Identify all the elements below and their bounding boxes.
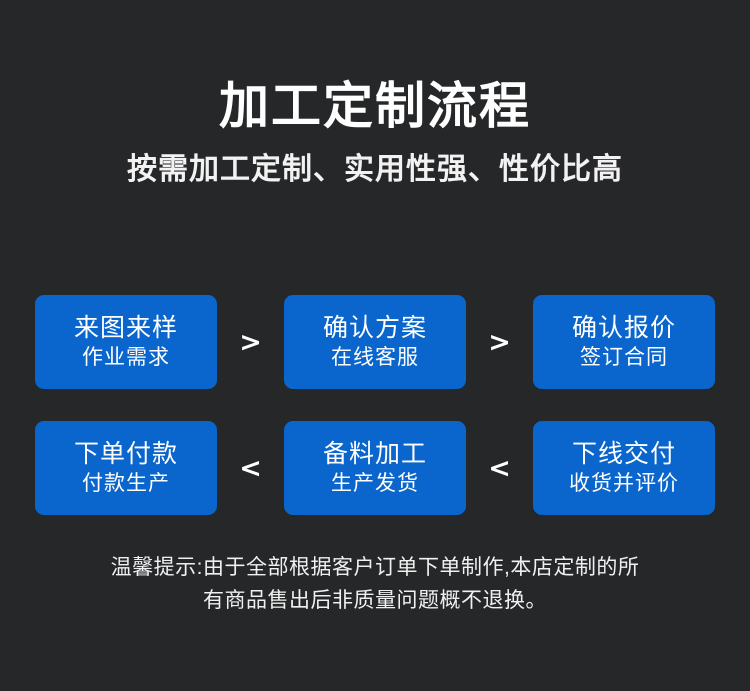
flow-step-6-secondary: 收货并评价 [569,470,679,497]
flow-step-4-secondary: 付款生产 [82,470,170,497]
custom-process-infographic: 加工定制流程 按需加工定制、实用性强、性价比高 来图来样 作业需求 > 确认方案… [0,0,750,691]
flow-step-3-primary: 确认报价 [572,313,676,344]
flow-step-2-secondary: 在线客服 [331,344,419,371]
flow-step-5-secondary: 生产发货 [331,470,419,497]
flow-step-6[interactable]: 下线交付 收货并评价 [533,421,715,515]
chevron-right-icon: > [466,329,533,356]
chevron-right-icon: > [217,329,284,356]
flow-step-4[interactable]: 下单付款 付款生产 [35,421,217,515]
flow-step-2-primary: 确认方案 [323,313,427,344]
flow-step-1-secondary: 作业需求 [82,344,170,371]
flow-row-1: 来图来样 作业需求 > 确认方案 在线客服 > 确认报价 签订合同 [0,295,750,389]
disclaimer-note: 温馨提示:由于全部根据客户订单下单制作,本店定制的所 有商品售出后非质量问题概不… [0,552,750,617]
flow-step-2[interactable]: 确认方案 在线客服 [284,295,466,389]
flow-step-1[interactable]: 来图来样 作业需求 [35,295,217,389]
header: 加工定制流程 按需加工定制、实用性强、性价比高 [0,0,750,188]
disclaimer-note-line-2: 有商品售出后非质量问题概不退换。 [60,585,690,618]
flow-step-3-secondary: 签订合同 [580,344,668,371]
chevron-left-icon: < [466,455,533,482]
chevron-left-icon: < [217,455,284,482]
flow-step-6-primary: 下线交付 [572,439,676,470]
page-title: 加工定制流程 [0,0,750,134]
flow-step-5-primary: 备料加工 [323,439,427,470]
flow-step-1-primary: 来图来样 [74,313,178,344]
process-flow: 来图来样 作业需求 > 确认方案 在线客服 > 确认报价 签订合同 下线交付 收… [0,295,750,515]
flow-row-2: 下线交付 收货并评价 < 备料加工 生产发货 < 下单付款 付款生产 [0,421,750,515]
flow-step-3[interactable]: 确认报价 签订合同 [533,295,715,389]
flow-step-4-primary: 下单付款 [74,439,178,470]
flow-step-5[interactable]: 备料加工 生产发货 [284,421,466,515]
page-subtitle: 按需加工定制、实用性强、性价比高 [0,134,750,188]
disclaimer-note-line-1: 温馨提示:由于全部根据客户订单下单制作,本店定制的所 [60,552,690,585]
